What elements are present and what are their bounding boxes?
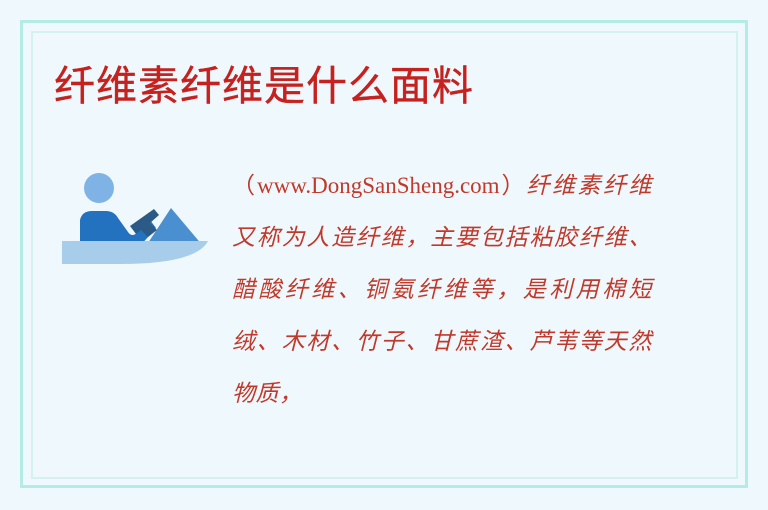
person-in-boat-illustration (58, 168, 208, 264)
paddle-icon (130, 209, 159, 237)
figure-head-icon (84, 173, 114, 203)
boat-hull-icon (62, 241, 208, 264)
article-body-text: 纤维素纤维又称为人造纤维，主要包括粘胶纤维、醋酸纤维、铜氨纤维等，是利用棉短绒、… (232, 173, 652, 406)
article-card: 纤维素纤维是什么面料 （www.DongSanSheng.com）纤维素纤维又称… (0, 0, 768, 510)
page-title: 纤维素纤维是什么面料 (54, 60, 694, 112)
article-body: （www.DongSanSheng.com）纤维素纤维又称为人造纤维，主要包括粘… (232, 160, 652, 420)
source-url: （www.DongSanSheng.com） (232, 173, 527, 198)
